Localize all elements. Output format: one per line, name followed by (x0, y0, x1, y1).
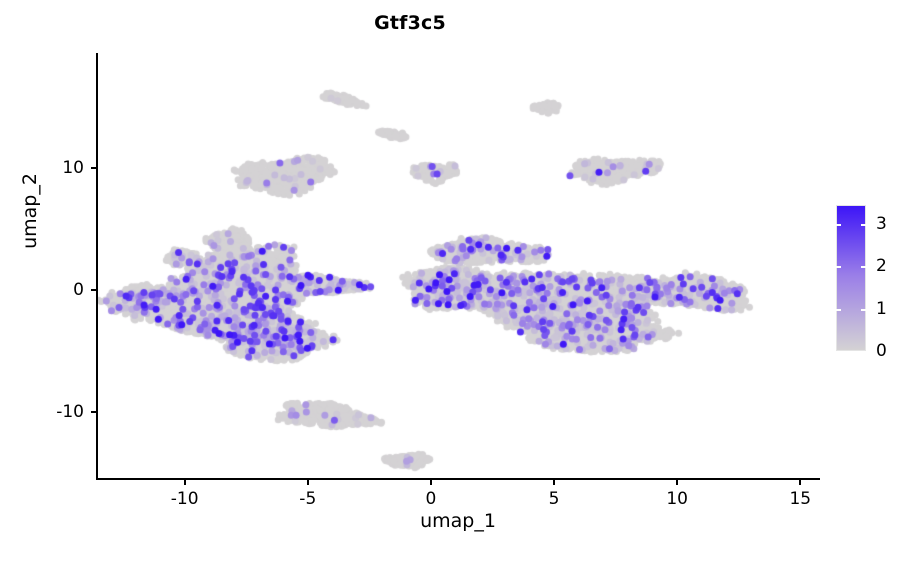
colorbar-tick-mark (836, 266, 841, 268)
umap-feature-plot: Gtf3c5 -10-5051015 100-10 umap_1 umap_2 … (0, 0, 911, 562)
y-tick-label: -10 (36, 402, 84, 422)
x-tick-mark (430, 480, 432, 485)
x-tick-mark (307, 480, 309, 485)
x-tick-label: -10 (171, 489, 199, 509)
y-tick-mark (91, 411, 96, 413)
scatter-point-cloud (96, 53, 820, 480)
colorbar-tick-mark (861, 266, 866, 268)
x-tick-mark (184, 480, 186, 485)
colorbar-tick-label: 2 (876, 256, 887, 276)
page-title: Gtf3c5 (0, 12, 820, 34)
x-axis-label: umap_1 (96, 510, 820, 532)
x-tick-mark (799, 480, 801, 485)
plot-axes: -10-5051015 100-10 (96, 53, 820, 480)
colorbar-tick-label: 3 (876, 214, 887, 234)
y-tick-label: 10 (36, 158, 84, 178)
y-tick-mark (91, 289, 96, 291)
colorbar-tick-mark (861, 309, 866, 311)
x-tick-label: -5 (299, 489, 316, 509)
x-tick-mark (553, 480, 555, 485)
y-axis-label: umap_2 (19, 111, 41, 311)
colorbar: 0123 (836, 205, 866, 351)
colorbar-tick-mark (836, 224, 841, 226)
colorbar-tick-label: 0 (876, 341, 887, 361)
x-tick-label: 10 (666, 489, 688, 509)
colorbar-tick-mark (836, 309, 841, 311)
x-tick-label: 15 (789, 489, 811, 509)
x-tick-label: 5 (549, 489, 560, 509)
x-tick-label: 0 (425, 489, 436, 509)
colorbar-tick-label: 1 (876, 299, 887, 319)
colorbar-tick-mark (861, 224, 866, 226)
y-tick-label: 0 (36, 280, 84, 300)
y-tick-mark (91, 167, 96, 169)
x-tick-mark (676, 480, 678, 485)
colorbar-gradient (836, 205, 866, 351)
